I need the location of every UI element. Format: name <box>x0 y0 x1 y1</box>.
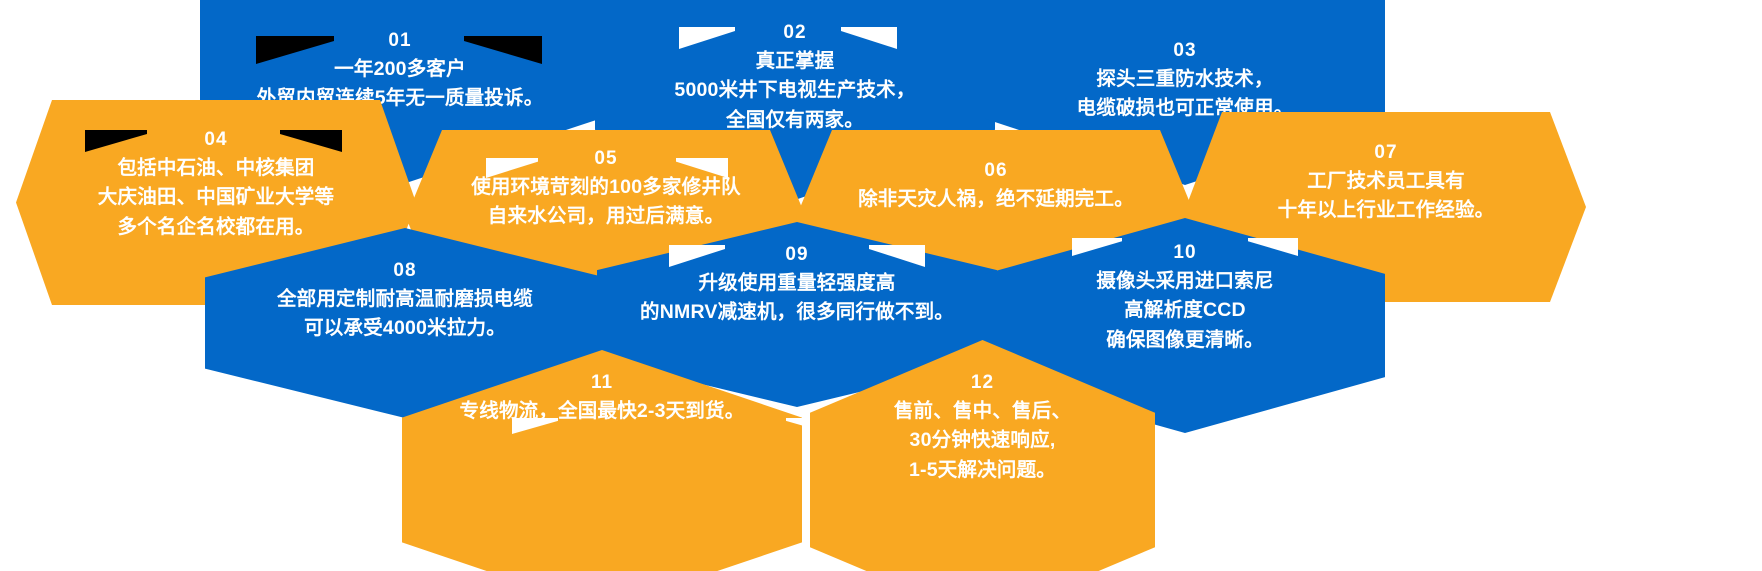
card-02-number: 02 <box>621 22 969 44</box>
card-08-text: 全部用定制耐高温耐磨损电缆 可以承受4000米拉力。 <box>231 285 579 344</box>
card-04-text: 包括中石油、中核集团 大庆油田、中国矿业大学等 多个名企名校都在用。 <box>42 154 390 243</box>
card-05-line-2: 自来水公司，用过后满意。 <box>432 202 780 232</box>
card-04-line-1: 包括中石油、中核集团 <box>42 154 390 184</box>
card-06-number: 06 <box>822 160 1170 182</box>
card-11-line-1: 专线物流，全国最快2-3天到货。 <box>428 397 776 427</box>
card-05-number: 05 <box>432 148 780 170</box>
card-03-line-1: 探头三重防水技术， <box>1011 65 1359 95</box>
card-06-line-1: 除非天灾人祸，绝不延期完工。 <box>822 185 1170 215</box>
card-10-text: 摄像头采用进口索尼 高解析度CCD 确保图像更清晰。 <box>1011 267 1359 356</box>
infographic-canvas: 01 一年200多客户 外贸内贸连续5年无一质量投诉。 02 真正掌握 5000… <box>0 0 1762 571</box>
card-12-text: 售前、售中、售后、 30分钟快速响应, 1-5天解决问题。 <box>836 397 1129 486</box>
card-01-number: 01 <box>226 30 574 52</box>
card-09-line-2: 的NMRV减速机，很多同行做不到。 <box>623 298 971 328</box>
card-05-text: 使用环境苛刻的100多家修井队 自来水公司，用过后满意。 <box>432 173 780 232</box>
card-02-line-2: 5000米井下电视生产技术， <box>621 76 969 106</box>
card-07-line-1: 工厂技术员工具有 <box>1212 167 1560 197</box>
card-05-line-1: 使用环境苛刻的100多家修井队 <box>432 173 780 203</box>
card-02-text: 真正掌握 5000米井下电视生产技术， 全国仅有两家。 <box>621 47 969 136</box>
card-10-line-3: 确保图像更清晰。 <box>1011 326 1359 356</box>
card-04-number: 04 <box>42 129 390 151</box>
card-01-line-1: 一年200多客户 <box>226 55 574 85</box>
card-10-line-2: 高解析度CCD <box>1011 296 1359 326</box>
card-12-line-3: 1-5天解决问题。 <box>836 456 1129 486</box>
card-08-line-1: 全部用定制耐高温耐磨损电缆 <box>231 285 579 315</box>
card-10-line-1: 摄像头采用进口索尼 <box>1011 267 1359 297</box>
card-08-line-2: 可以承受4000米拉力。 <box>231 314 579 344</box>
card-04-line-3: 多个名企名校都在用。 <box>42 213 390 243</box>
card-02-line-1: 真正掌握 <box>621 47 969 77</box>
card-06-text: 除非天灾人祸，绝不延期完工。 <box>822 185 1170 215</box>
card-04-line-2: 大庆油田、中国矿业大学等 <box>42 183 390 213</box>
card-07-text: 工厂技术员工具有 十年以上行业工作经验。 <box>1212 167 1560 226</box>
card-12-line-1: 售前、售中、售后、 <box>836 397 1129 427</box>
card-09-text: 升级使用重量轻强度高 的NMRV减速机，很多同行做不到。 <box>623 269 971 328</box>
card-07-line-2: 十年以上行业工作经验。 <box>1212 196 1560 226</box>
card-08-number: 08 <box>231 260 579 282</box>
card-12-line-2: 30分钟快速响应, <box>836 426 1129 456</box>
card-09-line-1: 升级使用重量轻强度高 <box>623 269 971 299</box>
card-11-text: 专线物流，全国最快2-3天到货。 <box>428 397 776 427</box>
card-07-number: 07 <box>1212 142 1560 164</box>
card-03-number: 03 <box>1011 40 1359 62</box>
